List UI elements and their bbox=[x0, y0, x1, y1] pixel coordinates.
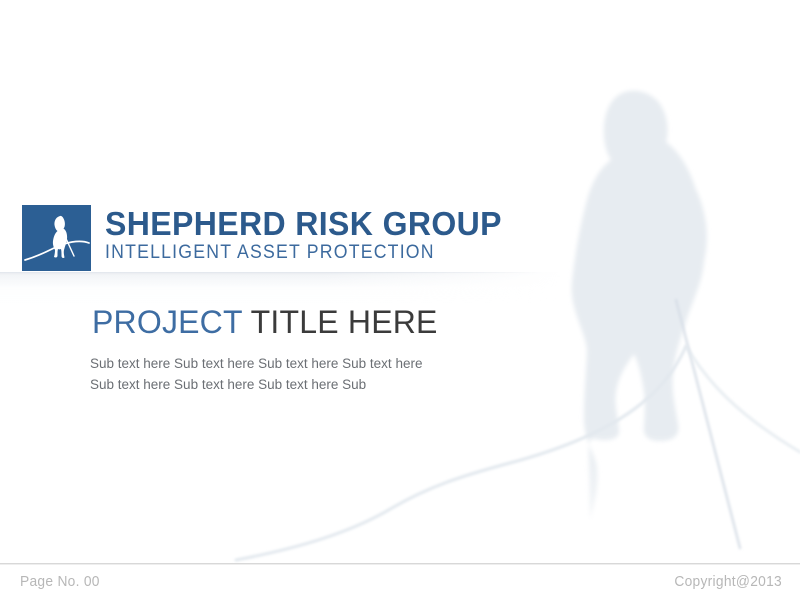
title-block: PROJECT TITLE HERE bbox=[92, 303, 438, 341]
staff-line bbox=[676, 300, 740, 548]
page-title: PROJECT TITLE HERE bbox=[92, 303, 438, 341]
subtitle-line-1: Sub text here Sub text here Sub text her… bbox=[90, 353, 422, 374]
footer-divider-highlight bbox=[0, 564, 800, 565]
page-title-accent: PROJECT bbox=[92, 304, 242, 340]
brand-logo-lockup: SHEPHERD RISK GROUP INTELLIGENT ASSET PR… bbox=[22, 205, 514, 271]
subtitle-line-2: Sub text here Sub text here Sub text her… bbox=[90, 374, 422, 395]
header-separator-band bbox=[0, 272, 560, 306]
page-title-rest: TITLE HERE bbox=[242, 304, 437, 340]
subtitle-block: Sub text here Sub text here Sub text her… bbox=[90, 353, 422, 395]
shepherd-with-staff-on-hill-icon bbox=[22, 205, 91, 271]
slide-canvas: SHEPHERD RISK GROUP INTELLIGENT ASSET PR… bbox=[0, 0, 800, 600]
brand-name: SHEPHERD RISK GROUP bbox=[105, 207, 502, 241]
shepherd-silhouette-watermark bbox=[572, 91, 707, 520]
page-number-label: Page No. 00 bbox=[20, 573, 100, 590]
footer: Page No. 00 Copyright@2013 bbox=[0, 568, 800, 600]
copyright-label: Copyright@2013 bbox=[674, 573, 782, 590]
brand-logo-text: SHEPHERD RISK GROUP INTELLIGENT ASSET PR… bbox=[105, 207, 514, 264]
brand-tagline: INTELLIGENT ASSET PROTECTION bbox=[105, 242, 486, 264]
